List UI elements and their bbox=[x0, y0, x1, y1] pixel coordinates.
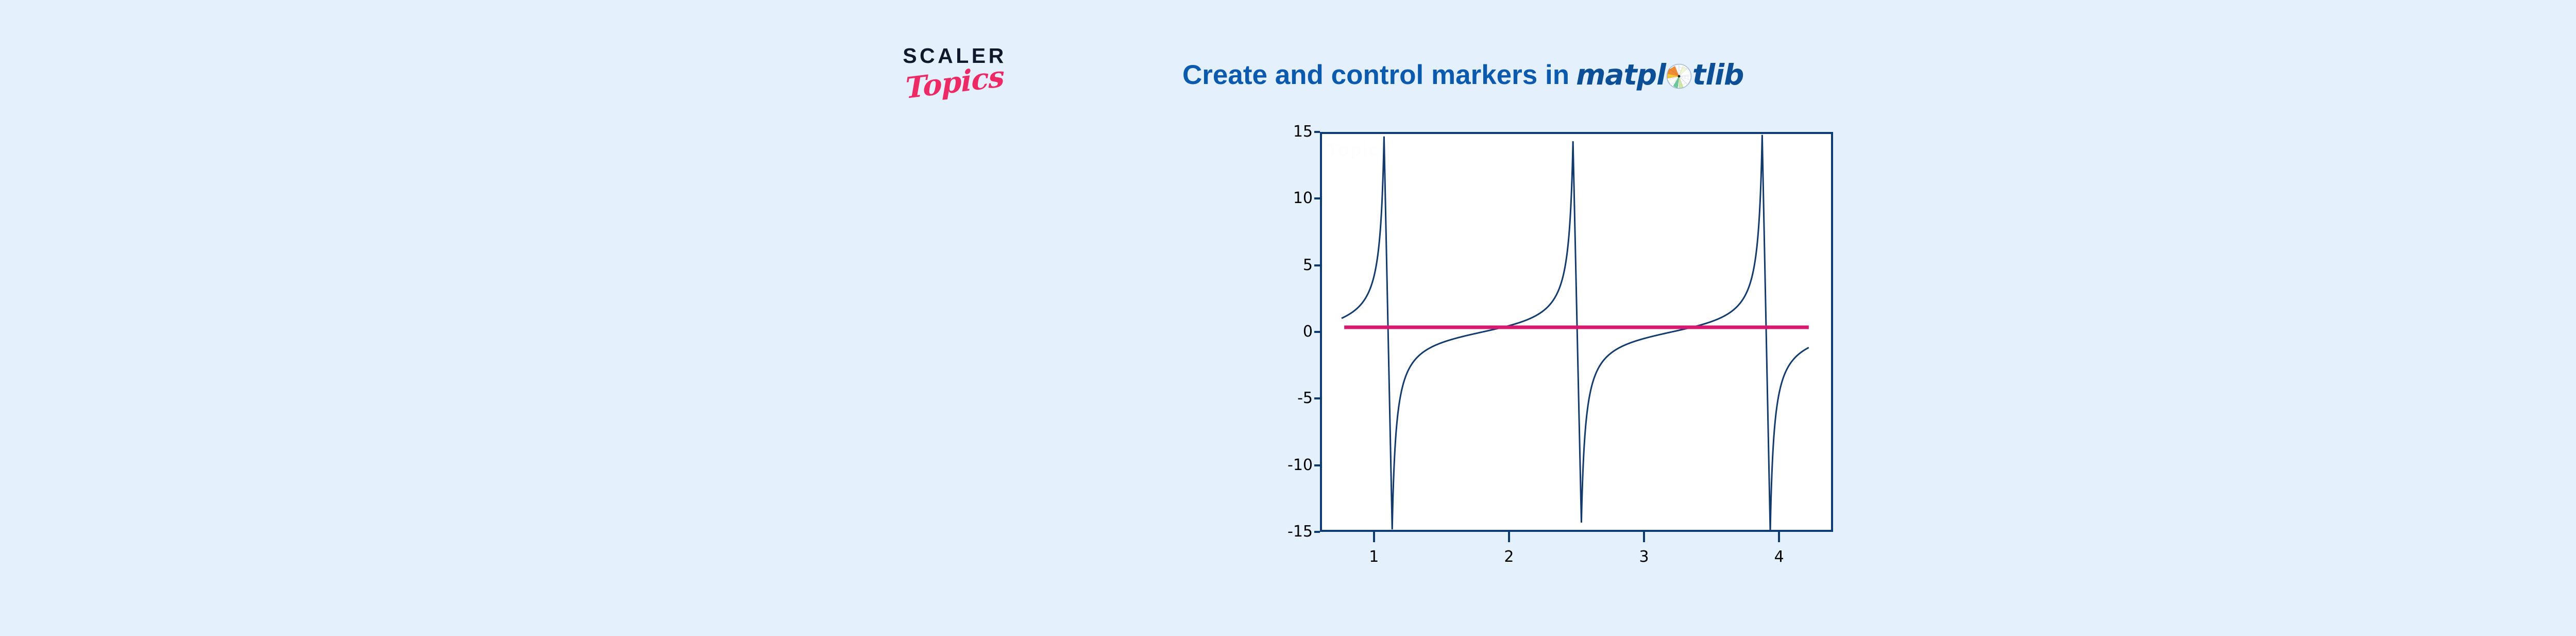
y-tick-mark bbox=[1314, 264, 1320, 266]
matplotlib-brand-prefix: matpl bbox=[1576, 61, 1666, 89]
y-tick-label: 0 bbox=[1303, 324, 1313, 340]
y-tick-label: -10 bbox=[1287, 458, 1313, 473]
matplotlib-brand-suffix: tlib bbox=[1692, 61, 1743, 89]
x-tick-mark bbox=[1778, 532, 1780, 542]
y-tick-mark bbox=[1314, 531, 1320, 533]
x-tick-label: 3 bbox=[1639, 549, 1649, 565]
y-tick-label: -5 bbox=[1297, 391, 1313, 406]
matplotlib-logo-icon bbox=[1666, 63, 1692, 89]
y-tick-mark bbox=[1314, 397, 1320, 399]
y-tick-label: 15 bbox=[1293, 124, 1313, 140]
y-tick-mark bbox=[1314, 464, 1320, 466]
x-tick-mark bbox=[1643, 532, 1645, 542]
plot-canvas bbox=[1320, 132, 1833, 532]
y-tick-label: 10 bbox=[1293, 191, 1313, 206]
x-tick-mark bbox=[1373, 532, 1375, 542]
page-title: Create and control markers in matpl bbox=[1182, 61, 1743, 89]
y-tick-label: -15 bbox=[1287, 524, 1313, 540]
series-tangent-branch bbox=[1483, 141, 1672, 523]
series-tangent-branch bbox=[1342, 137, 1483, 530]
x-tick-label: 4 bbox=[1774, 549, 1784, 565]
x-tick-mark bbox=[1508, 532, 1510, 542]
scaler-topics-logo: SCALER Topics bbox=[888, 45, 1022, 118]
x-tick-label: 2 bbox=[1504, 549, 1514, 565]
page-title-text: Create and control markers in bbox=[1182, 61, 1569, 89]
matplotlib-brand: matpl bbox=[1576, 61, 1743, 89]
y-tick-mark bbox=[1314, 197, 1320, 199]
y-tick-label: 5 bbox=[1303, 258, 1313, 273]
matplotlib-figure: Topics 151050-5-10-151234 bbox=[1320, 132, 1833, 532]
y-tick-mark bbox=[1314, 131, 1320, 133]
x-tick-label: 1 bbox=[1369, 549, 1379, 565]
series-tangent-branch bbox=[1672, 135, 1809, 532]
y-tick-mark bbox=[1314, 331, 1320, 333]
